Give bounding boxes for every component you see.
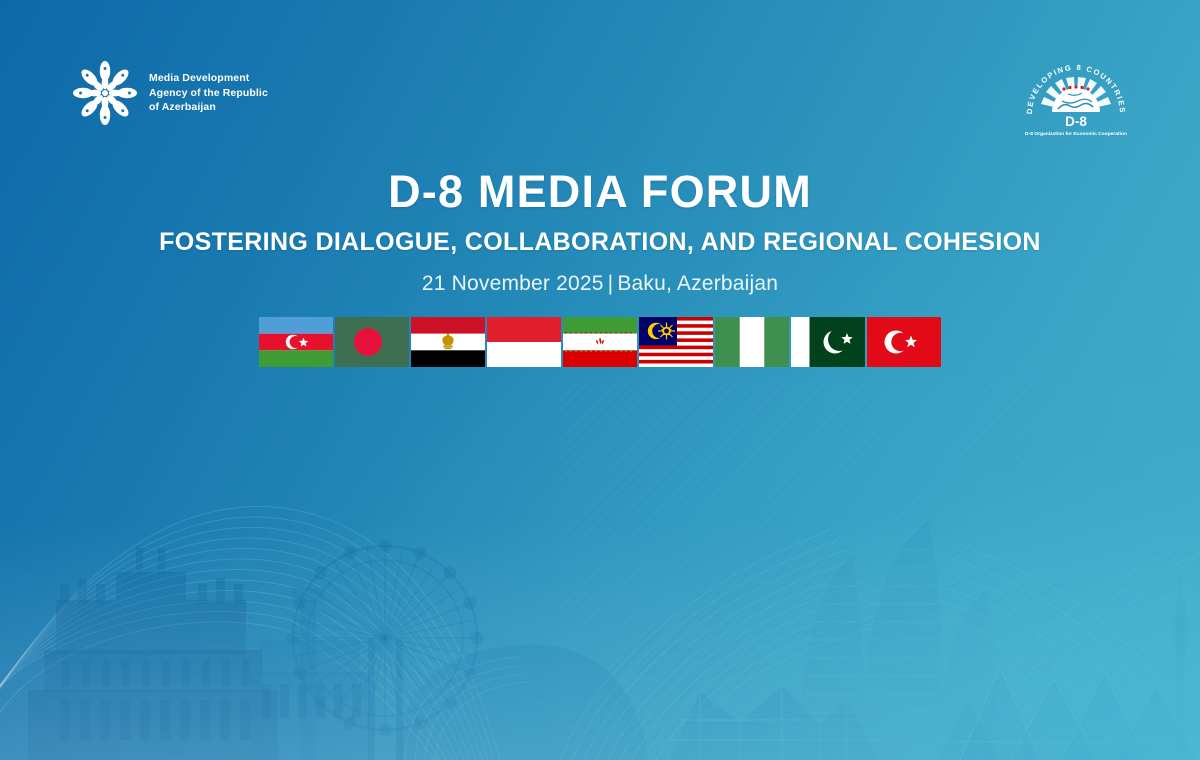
flag-pakistan xyxy=(791,317,865,367)
flame-towers-facade-lines xyxy=(805,550,941,730)
government-house-building xyxy=(28,548,278,760)
flag-egypt xyxy=(411,317,485,367)
mda-logo: Media Development Agency of the Republic… xyxy=(72,60,268,126)
flag-row xyxy=(0,317,1200,367)
event-location: Baku, Azerbaijan xyxy=(617,272,778,295)
ferris-wheel-cabins xyxy=(287,540,484,737)
flowing-line-pattern-left xyxy=(0,506,500,760)
d8-mark-text: D-8 xyxy=(1065,114,1087,129)
tv-tower xyxy=(1171,576,1190,760)
crisscross-net-pattern xyxy=(930,540,1200,760)
forum-banner: Media Development Agency of the Republic… xyxy=(0,0,1200,760)
heydar-aliyev-center-lines xyxy=(405,657,528,760)
flag-bangladesh xyxy=(335,317,409,367)
crystal-hall xyxy=(668,686,880,760)
old-city-block xyxy=(250,640,370,760)
crystal-hall-facets xyxy=(668,686,880,760)
flag-turkey xyxy=(867,317,941,367)
page-title: D-8 MEDIA FORUM xyxy=(0,168,1200,215)
baku-ferris-wheel xyxy=(293,546,477,730)
page-subtitle: FOSTERING DIALOGUE, COLLABORATION, AND R… xyxy=(0,229,1200,257)
d8-logo: DEVELOPING 8 COUNTRIES D-8 D-8 Organizat… xyxy=(1022,56,1130,138)
mda-logo-text: Media Development Agency of the Republic… xyxy=(149,71,268,116)
dateline: 21 November 2025|Baku, Azerbaijan xyxy=(0,272,1200,296)
flag-indonesia xyxy=(487,317,561,367)
d8-caption-text: D-8 Organization for Economic Cooperatio… xyxy=(1025,131,1127,137)
heydar-aliyev-center xyxy=(398,645,648,760)
diagonal-hatch-field xyxy=(560,380,1200,760)
ferris-wheel-support xyxy=(368,638,403,760)
eight-petal-rosette-icon xyxy=(72,60,138,126)
dateline-separator: | xyxy=(604,272,618,295)
flag-iran xyxy=(563,317,637,367)
main-content: D-8 MEDIA FORUM FOSTERING DIALOGUE, COLL… xyxy=(0,168,1200,367)
flag-azerbaijan xyxy=(259,317,333,367)
zigzag-crystal-outline xyxy=(955,668,1200,760)
event-date: 21 November 2025 xyxy=(422,272,604,295)
flag-malaysia xyxy=(639,317,713,367)
government-house-windows xyxy=(60,660,250,740)
maiden-tower xyxy=(292,588,324,760)
zigzag-crystal-shapes xyxy=(936,668,1198,760)
flag-nigeria xyxy=(715,317,789,367)
banner-header: Media Development Agency of the Republic… xyxy=(0,0,1200,150)
fan-line-sheaf xyxy=(560,530,902,760)
flame-towers xyxy=(800,520,996,760)
